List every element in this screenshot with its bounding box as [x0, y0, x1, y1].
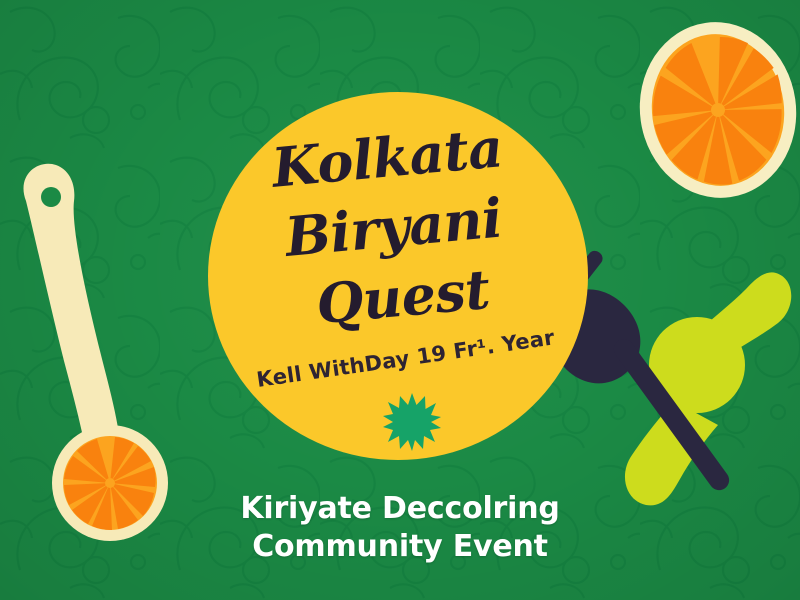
bottom-headline: Kiriyate Deccolring Community Event — [0, 490, 800, 566]
orange-slice-icon — [630, 10, 800, 220]
starburst-icon — [382, 392, 442, 452]
bottom-headline-line-2: Community Event — [0, 528, 800, 566]
lime-gourd-vegetable-icon — [600, 265, 800, 515]
bottom-headline-line-1: Kiriyate Deccolring — [0, 490, 800, 528]
poster-canvas: Kolkata Biryani Quest Kell WithDay 19 Fr… — [0, 0, 800, 600]
